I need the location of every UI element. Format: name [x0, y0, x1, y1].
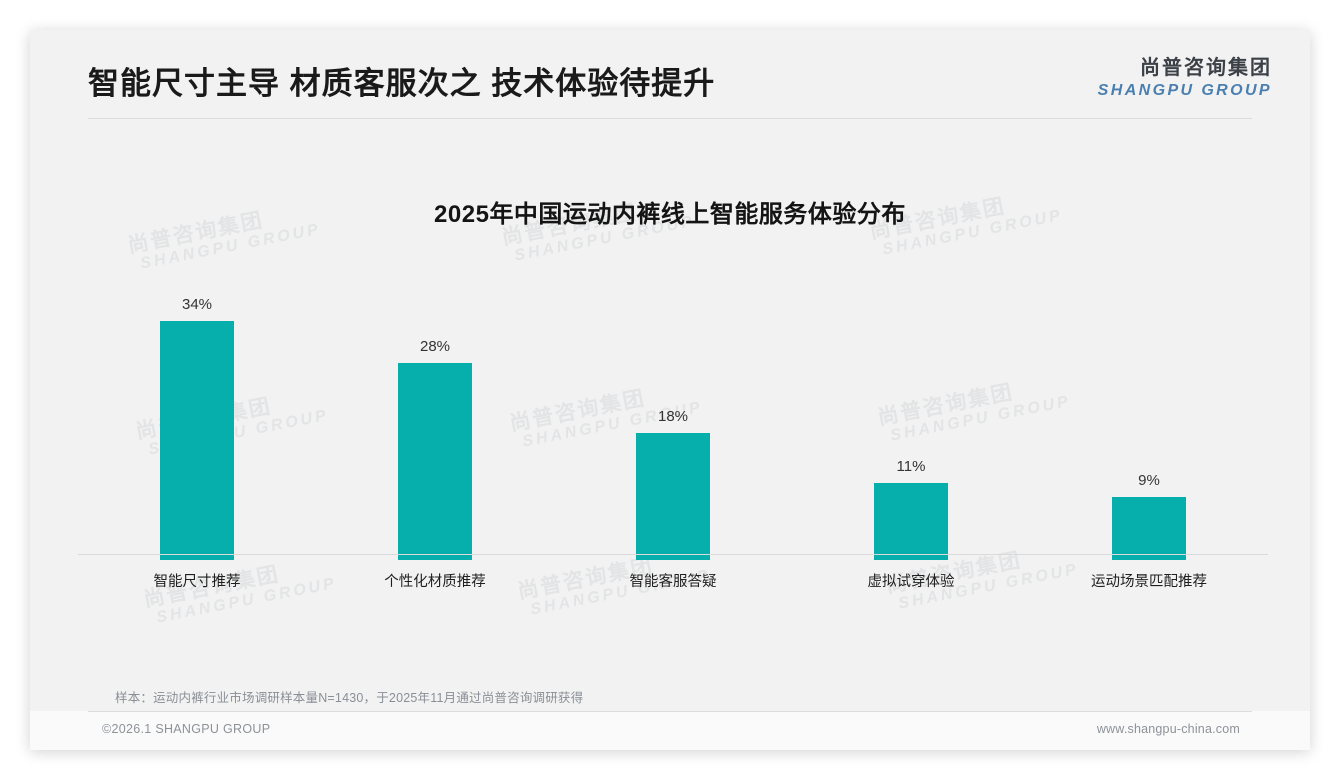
brand-logo-en: SHANGPU GROUP	[1098, 81, 1272, 101]
chart-category-label: 运动场景匹配推荐	[1030, 570, 1268, 591]
bar-slot: 9%	[1030, 270, 1268, 560]
brand-logo-cn: 尚普咨询集团	[1098, 56, 1272, 81]
bar-value-label: 9%	[1138, 472, 1160, 489]
chart-x-axis-line	[78, 554, 1268, 555]
chart-bar[interactable]	[1112, 497, 1186, 560]
bar-slot: 34%	[78, 270, 316, 560]
chart-category-label: 虚拟试穿体验	[792, 570, 1030, 591]
bar-value-label: 18%	[658, 408, 688, 425]
bar-chart-plot-area: 34%28%18%11%9%	[78, 270, 1268, 560]
footer-divider	[88, 711, 1252, 712]
chart-category-label: 智能客服答疑	[554, 570, 792, 591]
chart-bar[interactable]	[398, 363, 472, 560]
chart-title: 2025年中国运动内裤线上智能服务体验分布	[30, 194, 1310, 229]
slide-card: 尚普咨询集团SHANGPU GROUP 尚普咨询集团SHANGPU GROUP …	[30, 30, 1310, 750]
chart-bar[interactable]	[636, 433, 710, 560]
bar-value-label: 11%	[897, 458, 926, 475]
header-divider	[88, 118, 1252, 119]
bar-value-label: 34%	[182, 296, 212, 313]
bar-value-label: 28%	[420, 338, 450, 355]
chart-footnote: 样本：运动内裤行业市场调研样本量N=1430，于2025年11月通过尚普咨询调研…	[115, 687, 583, 706]
brand-logo: 尚普咨询集团 SHANGPU GROUP	[1098, 56, 1272, 101]
footer-copyright: ©2026.1 SHANGPU GROUP	[102, 722, 270, 736]
footer-website[interactable]: www.shangpu-china.com	[1097, 722, 1240, 736]
slide-header: 智能尺寸主导 材质客服次之 技术体验待提升 尚普咨询集团 SHANGPU GRO…	[30, 30, 1310, 118]
chart-bar[interactable]	[160, 321, 234, 560]
bar-slot: 28%	[316, 270, 554, 560]
bar-slot: 11%	[792, 270, 1030, 560]
bar-slot: 18%	[554, 270, 792, 560]
chart-category-label: 个性化材质推荐	[316, 570, 554, 591]
chart-bar[interactable]	[874, 483, 948, 560]
chart-category-label: 智能尺寸推荐	[78, 570, 316, 591]
page-title: 智能尺寸主导 材质客服次之 技术体验待提升	[88, 58, 715, 103]
